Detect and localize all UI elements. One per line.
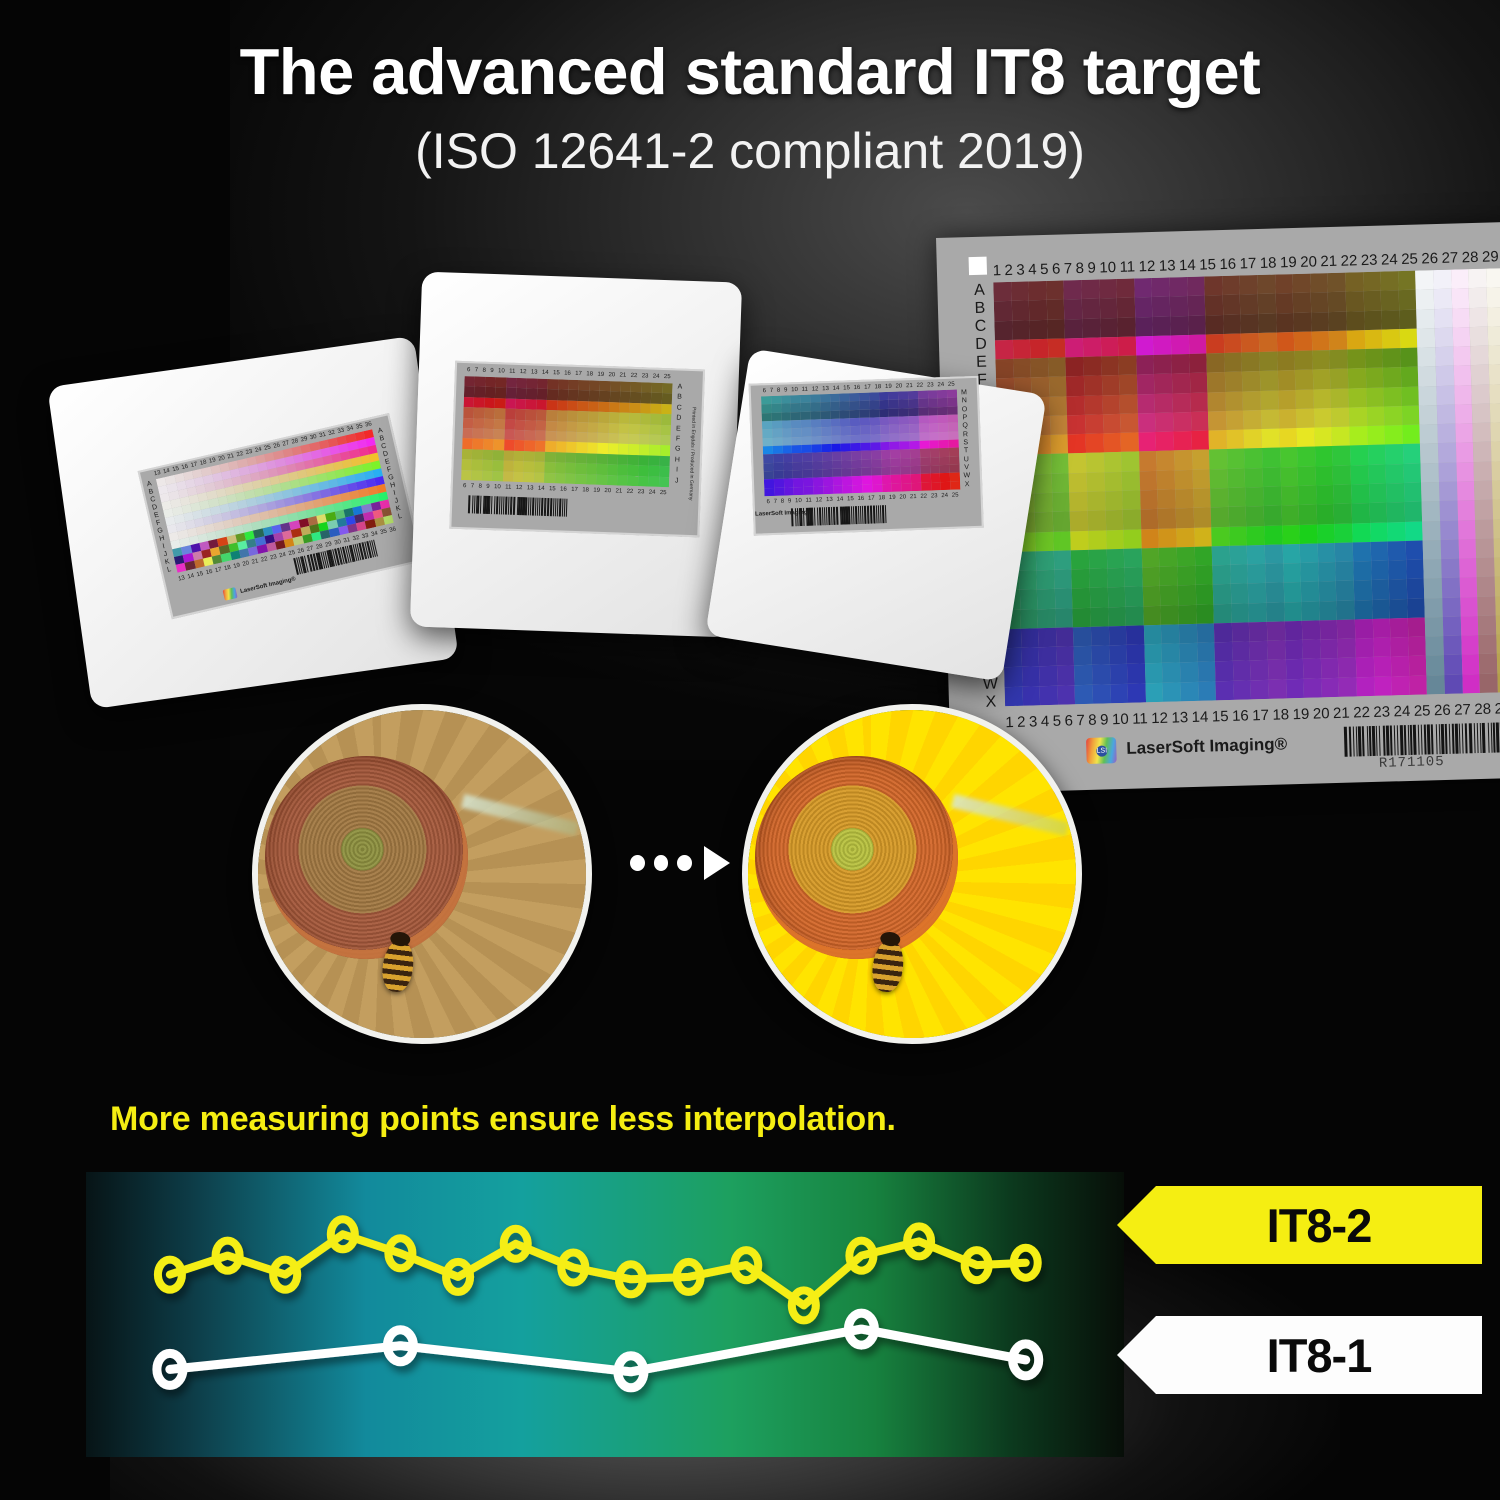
color-patch: [493, 460, 504, 471]
color-patch: [1187, 277, 1205, 297]
color-patch: [1121, 433, 1139, 453]
color-patch: [1473, 423, 1491, 443]
color-patch: [524, 451, 535, 462]
row-letter: G: [672, 446, 683, 457]
color-patch: [1453, 365, 1471, 385]
color-patch: [1267, 621, 1285, 641]
color-patch: [547, 400, 558, 411]
color-patch: [1382, 348, 1400, 368]
color-patch: [482, 470, 493, 481]
color-patch: [1337, 600, 1355, 620]
color-patch: [596, 474, 607, 485]
color-patch: [1170, 316, 1188, 336]
color-patch: [638, 476, 649, 487]
barcode-bar: [1455, 724, 1459, 754]
color-patch: [1400, 328, 1418, 348]
color-patch: [1320, 639, 1338, 659]
color-patch: [1152, 278, 1170, 298]
color-patch: [1178, 585, 1196, 605]
column-number: 36: [387, 526, 398, 534]
column-number: 19: [1278, 253, 1299, 271]
color-patch: [1350, 445, 1368, 465]
row-letter: A: [674, 383, 685, 394]
color-patch: [1241, 333, 1259, 353]
color-patch: [1440, 501, 1458, 521]
color-patch: [1057, 666, 1075, 686]
color-patch: [1225, 391, 1243, 411]
color-patch: [1035, 512, 1053, 532]
color-patch: [1331, 388, 1349, 408]
color-patch: [1441, 559, 1459, 579]
column-number: 27: [1452, 701, 1473, 719]
page-subtitle: (ISO 12641-2 compliant 2019): [0, 122, 1500, 180]
color-patch: [1048, 358, 1066, 378]
column-number: 28: [1460, 248, 1481, 266]
color-patch: [1496, 615, 1500, 635]
color-patch: [1302, 620, 1320, 640]
color-patch: [1264, 525, 1282, 545]
color-patch: [1212, 546, 1230, 566]
color-patch: [1215, 642, 1233, 662]
color-patch: [1126, 625, 1144, 645]
color-patch: [462, 438, 473, 449]
color-patch: [1124, 548, 1142, 568]
column-number: 23: [929, 493, 940, 499]
color-patch: [1195, 585, 1213, 605]
color-patch: [1383, 367, 1401, 387]
column-number: 20: [897, 494, 908, 500]
color-patch: [620, 392, 631, 403]
color-patch: [462, 449, 473, 460]
color-patch: [1055, 589, 1073, 609]
column-number: 13: [1169, 709, 1190, 727]
color-patch: [1109, 626, 1127, 646]
color-patch: [1319, 601, 1337, 621]
color-patch: [1048, 338, 1066, 358]
barcode-bar: [558, 498, 561, 516]
chart-series-it8-2: [158, 1219, 1038, 1320]
color-patch: [1232, 622, 1250, 642]
column-number: 5: [1038, 260, 1050, 277]
color-patch: [1494, 576, 1500, 596]
color-patch: [1321, 658, 1339, 678]
color-patch: [995, 340, 1013, 360]
color-patch: [1415, 270, 1433, 290]
color-patch-grid: [993, 268, 1500, 707]
column-number: 17: [569, 487, 580, 493]
column-number: 25: [1399, 250, 1420, 268]
color-patch: [1260, 390, 1278, 410]
color-patch: [461, 470, 472, 481]
color-patch: [651, 393, 662, 404]
column-number: 17: [862, 384, 873, 390]
color-patch: [1336, 562, 1354, 582]
column-number: 24: [1392, 702, 1413, 720]
color-patch: [1423, 540, 1441, 560]
column-number: 19: [591, 488, 602, 494]
color-patch: [1066, 376, 1084, 396]
color-patch: [1374, 676, 1392, 696]
color-patch: [1105, 491, 1123, 511]
color-patch: [1312, 331, 1330, 351]
color-patch: [1303, 659, 1321, 679]
color-patch: [1019, 590, 1037, 610]
color-patch: [1389, 579, 1407, 599]
arrow-right-icon: [630, 840, 730, 886]
column-number: 10: [1110, 710, 1131, 728]
color-patch: [1089, 568, 1107, 588]
color-patch: [1457, 500, 1475, 520]
color-patch: [1107, 568, 1125, 588]
color-patch: [1433, 270, 1451, 290]
color-patch: [1102, 395, 1120, 415]
column-number: 14: [536, 486, 547, 492]
color-patch: [1241, 314, 1259, 334]
color-patch: [1454, 404, 1472, 424]
color-patch: [1451, 269, 1469, 289]
color-patch: [1192, 450, 1210, 470]
color-patch: [1335, 523, 1353, 543]
color-patch: [1436, 366, 1454, 386]
arrow-dot-1: [630, 855, 645, 871]
barcode-bar: [491, 496, 493, 514]
color-patch: [1065, 318, 1083, 338]
color-patch: [1178, 605, 1196, 625]
color-patch: [641, 393, 652, 404]
column-number: 20: [1311, 705, 1332, 723]
color-patch: [516, 388, 527, 399]
color-patch: [630, 403, 641, 414]
barcode-bar: [848, 506, 850, 524]
color-patch: [1370, 522, 1388, 542]
column-number: 14: [1190, 708, 1211, 726]
color-patch: [1284, 621, 1302, 641]
barcode-bar: [1427, 724, 1431, 754]
color-patch: [1137, 374, 1155, 394]
color-patch: [545, 441, 556, 452]
color-patch: [1314, 427, 1332, 447]
color-patch: [535, 451, 546, 462]
color-patch: [1263, 486, 1281, 506]
column-number: 22: [915, 382, 926, 388]
column-number: 21: [908, 493, 919, 499]
color-patch: [544, 473, 555, 484]
barcode-bar: [1362, 726, 1364, 756]
color-patch: [536, 420, 547, 431]
color-patch: [650, 424, 661, 435]
barcode-bar: [1390, 725, 1392, 755]
legend-label-it8-1: IT8-1: [1267, 1332, 1372, 1379]
color-patch: [474, 387, 485, 398]
color-patch: [1455, 423, 1473, 443]
color-patch: [1328, 273, 1346, 293]
slide-1-brand: LaserSoft Imaging®: [240, 576, 297, 595]
color-patch: [1318, 562, 1336, 582]
color-patch: [586, 453, 597, 464]
color-patch: [1293, 293, 1311, 313]
color-patch: [1022, 667, 1040, 687]
color-patch: [1474, 481, 1492, 501]
color-patch: [527, 378, 538, 389]
tagline: More measuring points ensure less interp…: [110, 1100, 1110, 1139]
barcode-bar: [881, 505, 884, 523]
color-patch: [1425, 598, 1443, 618]
color-patch: [1099, 298, 1117, 318]
color-patch: [1172, 393, 1190, 413]
color-patch: [568, 380, 579, 391]
color-patch: [536, 399, 547, 410]
color-patch: [1029, 300, 1047, 320]
color-patch: [659, 466, 670, 477]
color-patch: [545, 462, 556, 473]
color-patch: [515, 419, 526, 430]
color-patch: [1436, 385, 1454, 405]
color-patch: [1230, 545, 1248, 565]
column-number: 18: [873, 384, 884, 390]
color-patch: [537, 379, 548, 390]
slide-2-row-letters-right: ABCDEFGHIJ: [671, 383, 686, 487]
sunflower-image-before: [252, 704, 592, 1044]
color-patch: [660, 445, 671, 456]
color-patch: [1492, 499, 1500, 519]
column-number: 16: [558, 486, 569, 492]
column-number: 15: [551, 370, 562, 376]
color-patch: [589, 391, 600, 402]
color-patch: [1404, 483, 1422, 503]
color-patch: [1135, 297, 1153, 317]
color-patch: [640, 424, 651, 435]
column-number: 25: [950, 492, 961, 498]
color-patch: [1337, 619, 1355, 639]
color-patch: [1298, 466, 1316, 486]
color-patch: [587, 432, 598, 443]
color-patch: [1335, 542, 1353, 562]
color-patch: [1312, 350, 1330, 370]
barcode-bar: [885, 505, 887, 523]
barcode-bar: [1344, 727, 1348, 757]
color-patch: [1072, 569, 1090, 589]
color-patch: [1021, 628, 1039, 648]
column-number: 20: [894, 383, 905, 389]
color-patch: [1039, 666, 1057, 686]
color-patch: [764, 488, 774, 497]
color-patch: [618, 433, 629, 444]
color-patch: [1422, 521, 1440, 541]
color-patch: [1487, 326, 1500, 346]
color-patch: [1090, 588, 1108, 608]
color-patch: [1011, 301, 1029, 321]
color-patch: [1332, 427, 1350, 447]
barcode-bar: [1469, 723, 1473, 753]
color-patch: [1071, 530, 1089, 550]
lasersoft-logo-icon: LSI: [1086, 737, 1117, 764]
color-patch: [472, 460, 483, 471]
color-patch: [1242, 352, 1260, 372]
color-patch: [1349, 407, 1367, 427]
color-patch: [1145, 683, 1163, 703]
column-number: 19: [1291, 705, 1312, 723]
color-patch: [1369, 484, 1387, 504]
color-patch: [1458, 520, 1476, 540]
color-patch: [1103, 433, 1121, 453]
color-patch: [565, 473, 576, 484]
color-patch: [1117, 298, 1135, 318]
color-patch: [1120, 413, 1138, 433]
slide-mount-3: 678910111213141516171819202122232425 MNO…: [705, 348, 1047, 681]
color-patch: [1088, 511, 1106, 531]
color-patch: [566, 452, 577, 463]
column-number: 25: [662, 374, 673, 380]
color-patch: [1040, 686, 1058, 706]
color-patch: [1180, 662, 1198, 682]
barcode-bar: [1418, 725, 1420, 755]
color-patch: [545, 452, 556, 463]
barcode-bar: [1355, 726, 1357, 756]
column-number: 2: [1003, 261, 1015, 278]
column-number: 17: [1238, 255, 1259, 273]
column-number: 13: [1157, 257, 1178, 275]
slide-3-color-grid: [761, 390, 960, 497]
column-number: 15: [1197, 256, 1218, 274]
color-patch: [576, 442, 587, 453]
color-patch: [546, 410, 557, 421]
color-patch: [1207, 372, 1225, 392]
color-patch: [1160, 566, 1178, 586]
color-patch: [994, 320, 1012, 340]
color-patch: [1277, 351, 1295, 371]
color-patch: [1152, 297, 1170, 317]
color-patch: [1226, 430, 1244, 450]
color-patch: [630, 413, 641, 424]
color-patch: [1099, 279, 1117, 299]
color-patch: [630, 392, 641, 403]
slide-1-logo-icon: [223, 587, 238, 601]
color-patch: [1418, 347, 1436, 367]
color-patch: [1332, 446, 1350, 466]
column-number: 11: [503, 484, 514, 490]
color-patch: [1316, 504, 1334, 524]
color-patch: [513, 461, 524, 472]
arrow-dot-3: [677, 855, 692, 871]
color-patch: [1212, 565, 1230, 585]
color-patch: [1275, 293, 1293, 313]
color-patch: [1209, 449, 1227, 469]
color-patch: [1050, 415, 1068, 435]
color-patch: [1188, 315, 1206, 335]
color-patch: [1310, 273, 1328, 293]
color-patch: [1315, 446, 1333, 466]
column-number: 22: [628, 373, 639, 379]
color-patch: [1195, 565, 1213, 585]
color-patch: [1406, 560, 1424, 580]
color-patch: [1247, 525, 1265, 545]
color-patch: [1087, 491, 1105, 511]
color-patch: [1004, 667, 1022, 687]
color-patch: [1012, 320, 1030, 340]
sunflower-after-disc: [755, 756, 958, 959]
column-number: 15: [1210, 707, 1231, 725]
column-number: 29: [1480, 248, 1500, 266]
color-patch: [1352, 523, 1370, 543]
color-patch: [1351, 484, 1369, 504]
color-patch: [566, 442, 577, 453]
row-letter: F: [672, 435, 683, 446]
color-patch: [659, 476, 670, 487]
color-patch: [1179, 643, 1197, 663]
color-patch: [1435, 347, 1453, 367]
color-patch: [1123, 510, 1141, 530]
color-patch: [484, 398, 495, 409]
color-patch: [1286, 659, 1304, 679]
color-patch: [1207, 353, 1225, 373]
color-patch: [1443, 636, 1461, 656]
arrow-dot-2: [654, 855, 669, 871]
color-patch: [1090, 607, 1108, 627]
logo-badge: LSI: [1096, 745, 1107, 756]
column-number: 20: [1298, 253, 1319, 271]
color-patch: [1490, 403, 1500, 423]
color-patch: [1418, 366, 1436, 386]
color-patch: [1352, 503, 1370, 523]
color-patch: [1155, 393, 1173, 413]
column-number: 6: [1050, 260, 1062, 277]
color-patch: [1315, 466, 1333, 486]
column-number: 23: [1359, 251, 1380, 269]
color-patch: [516, 378, 527, 389]
color-patch: [525, 420, 536, 431]
color-patch: [1106, 549, 1124, 569]
color-patch: [1083, 357, 1101, 377]
color-patch: [1389, 599, 1407, 619]
color-patch: [1400, 348, 1418, 368]
color-patch: [597, 443, 608, 454]
slide-2-color-grid: [461, 376, 673, 487]
color-patch: [464, 386, 475, 397]
color-patch: [1158, 489, 1176, 509]
color-patch: [1122, 490, 1140, 510]
legend-item-it8-1: IT8-1: [1156, 1316, 1482, 1394]
barcode-bar: [1366, 726, 1368, 756]
color-patch: [1427, 675, 1445, 695]
barcode-bar: [1400, 725, 1404, 755]
color-patch: [921, 482, 931, 491]
color-patch: [1426, 655, 1444, 675]
chart-plot-area: [86, 1172, 1124, 1457]
color-patch: [940, 481, 950, 490]
color-patch: [557, 400, 568, 411]
color-patch: [1460, 597, 1478, 617]
barcode-bar: [468, 495, 471, 513]
color-patch: [1161, 624, 1179, 644]
color-patch: [607, 475, 618, 486]
color-patch: [1489, 364, 1500, 384]
color-patch: [882, 484, 892, 493]
color-patch: [1371, 561, 1389, 581]
color-patch: [1355, 619, 1373, 639]
color-patch: [1141, 528, 1159, 548]
color-patch: [475, 376, 486, 387]
color-patch: [1230, 565, 1248, 585]
color-patch: [631, 382, 642, 393]
barcode-bar: [536, 498, 537, 516]
column-number: 12: [1149, 709, 1170, 727]
color-patch: [1452, 327, 1470, 347]
color-patch: [1373, 638, 1391, 658]
column-number: 21: [904, 382, 915, 388]
color-patch: [1119, 356, 1137, 376]
color-patch: [1228, 487, 1246, 507]
color-patch: [1046, 280, 1064, 300]
